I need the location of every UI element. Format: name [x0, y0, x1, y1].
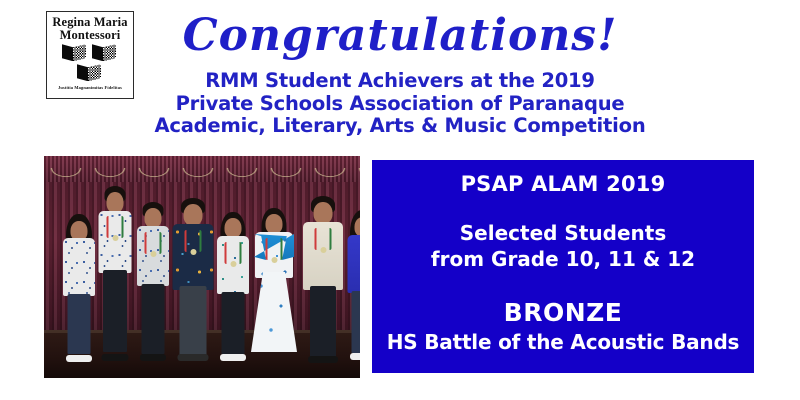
logo-book-glyph-right: [92, 44, 116, 61]
logo-emblem-icon: [59, 44, 121, 82]
award-category-label: HS Battle of the Acoustic Bands: [372, 330, 754, 354]
subtitle-line-one: RMM Student Achievers at the 2019: [130, 70, 670, 93]
logo-book-glyph-bottom: [77, 64, 101, 81]
curtain-swag-trim: [44, 168, 360, 184]
school-logo: Regina Maria Montessori Justitia Magnani…: [46, 11, 134, 99]
student-figure: [62, 214, 96, 364]
student-figure: [172, 198, 214, 364]
student-figure: [216, 212, 250, 364]
group-photo: [44, 156, 360, 378]
panel-event-title: PSAP ALAM 2019: [372, 172, 754, 196]
congratulations-poster: Regina Maria Montessori Justitia Magnani…: [0, 0, 800, 400]
panel-participants-line-one: Selected Students: [372, 220, 754, 246]
award-info-panel: PSAP ALAM 2019 Selected Students from Gr…: [372, 160, 754, 373]
award-medal-label: BRONZE: [372, 298, 754, 327]
logo-book-glyph-left: [62, 44, 86, 61]
panel-participants-line-two: from Grade 10, 11 & 12: [372, 246, 754, 272]
student-figure: [346, 210, 360, 364]
student-figure: [302, 196, 344, 364]
event-subtitle: RMM Student Achievers at the 2019 Privat…: [130, 70, 670, 138]
congratulations-headline: Congratulations!: [150, 14, 650, 58]
subtitle-line-two: Private Schools Association of Paranaque: [130, 93, 670, 116]
logo-motto: Justitia Magnanimitas Fidelitas: [58, 85, 122, 90]
logo-line-two: Montessori: [60, 29, 121, 42]
student-figure: [97, 186, 133, 364]
subtitle-line-three: Academic, Literary, Arts & Music Competi…: [130, 115, 670, 138]
student-figure: [251, 208, 297, 364]
student-figure: [136, 202, 170, 364]
panel-participants: Selected Students from Grade 10, 11 & 12: [372, 220, 754, 272]
